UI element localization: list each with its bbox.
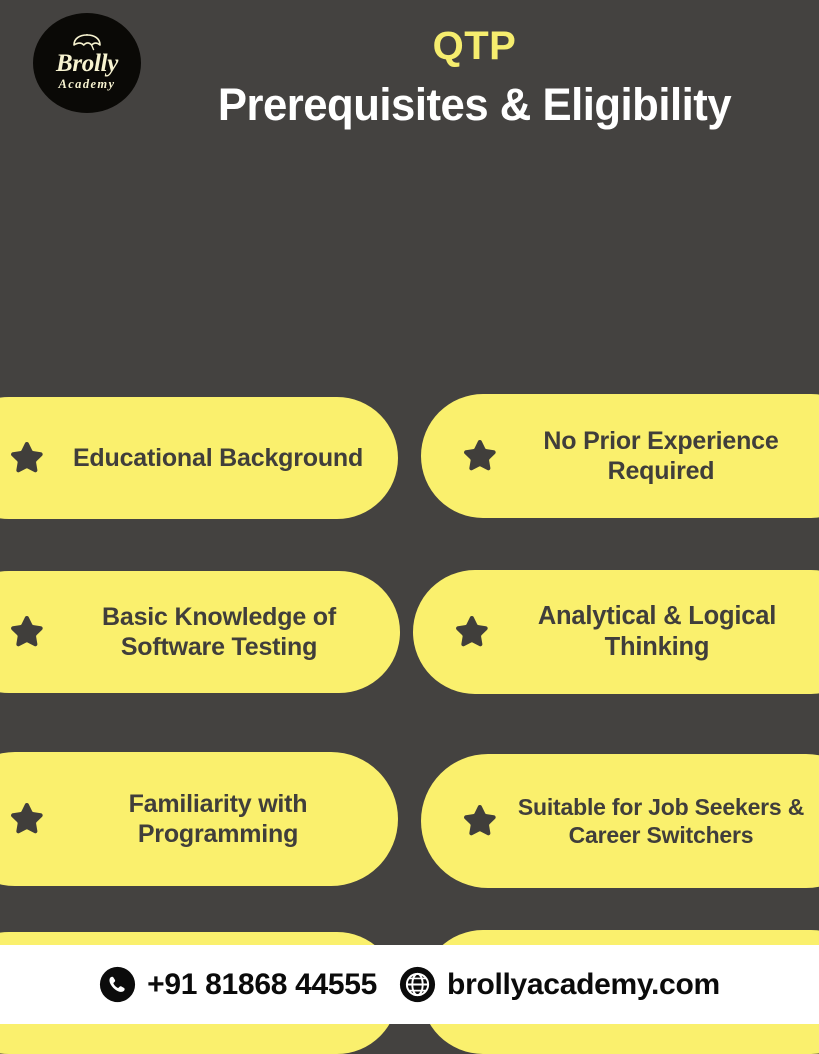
phone-number: +91 81868 44555	[147, 968, 377, 1002]
prerequisite-card-label: Familiarity with Programming	[56, 789, 380, 850]
page-title: Prerequisites & Eligibility	[160, 82, 790, 127]
umbrella-icon	[72, 34, 102, 51]
star-icon	[8, 439, 46, 477]
prerequisites-card-grid: Educational BackgroundNo Prior Experienc…	[0, 190, 819, 1054]
phone-contact[interactable]: +91 81868 44555	[99, 966, 377, 1003]
star-icon	[453, 613, 491, 651]
prerequisite-card-label: Suitable for Job Seekers & Career Switch…	[509, 793, 813, 849]
website-contact[interactable]: brollyacademy.com	[399, 966, 720, 1003]
star-icon	[8, 613, 46, 651]
contact-footer: +91 81868 44555 brollyacademy.com	[0, 945, 819, 1024]
prerequisite-card-label: Analytical & Logical Thinking	[501, 601, 813, 663]
phone-icon	[99, 966, 136, 1003]
prerequisite-card: Educational Background	[0, 397, 398, 519]
header: Brolly Academy QTP Prerequisites & Eligi…	[0, 0, 819, 190]
brolly-academy-logo: Brolly Academy	[33, 13, 141, 113]
prerequisite-card: Familiarity with Programming	[0, 752, 398, 886]
page-title-top: QTP	[150, 26, 799, 66]
prerequisite-card: Suitable for Job Seekers & Career Switch…	[421, 754, 819, 888]
prerequisite-card-label: No Prior Experience Required	[509, 426, 813, 487]
star-icon	[461, 802, 499, 840]
title-block: QTP Prerequisites & Eligibility	[150, 26, 799, 127]
star-icon	[461, 802, 499, 840]
star-icon	[8, 613, 46, 651]
prerequisite-card: No Prior Experience Required	[421, 394, 819, 518]
star-icon	[8, 439, 46, 477]
prerequisite-card-label: Basic Knowledge of Software Testing	[56, 602, 382, 663]
star-icon	[8, 800, 46, 838]
prerequisite-card: Basic Knowledge of Software Testing	[0, 571, 400, 693]
logo-wordmark: Brolly	[56, 52, 118, 76]
star-icon	[8, 800, 46, 838]
star-icon	[461, 437, 499, 475]
prerequisite-card: Analytical & Logical Thinking	[413, 570, 819, 694]
prerequisite-card-label: Educational Background	[56, 443, 380, 474]
website-url: brollyacademy.com	[447, 968, 720, 1002]
star-icon	[461, 437, 499, 475]
globe-icon	[399, 966, 436, 1003]
logo-subtitle: Academy	[58, 77, 115, 92]
star-icon	[453, 613, 491, 651]
